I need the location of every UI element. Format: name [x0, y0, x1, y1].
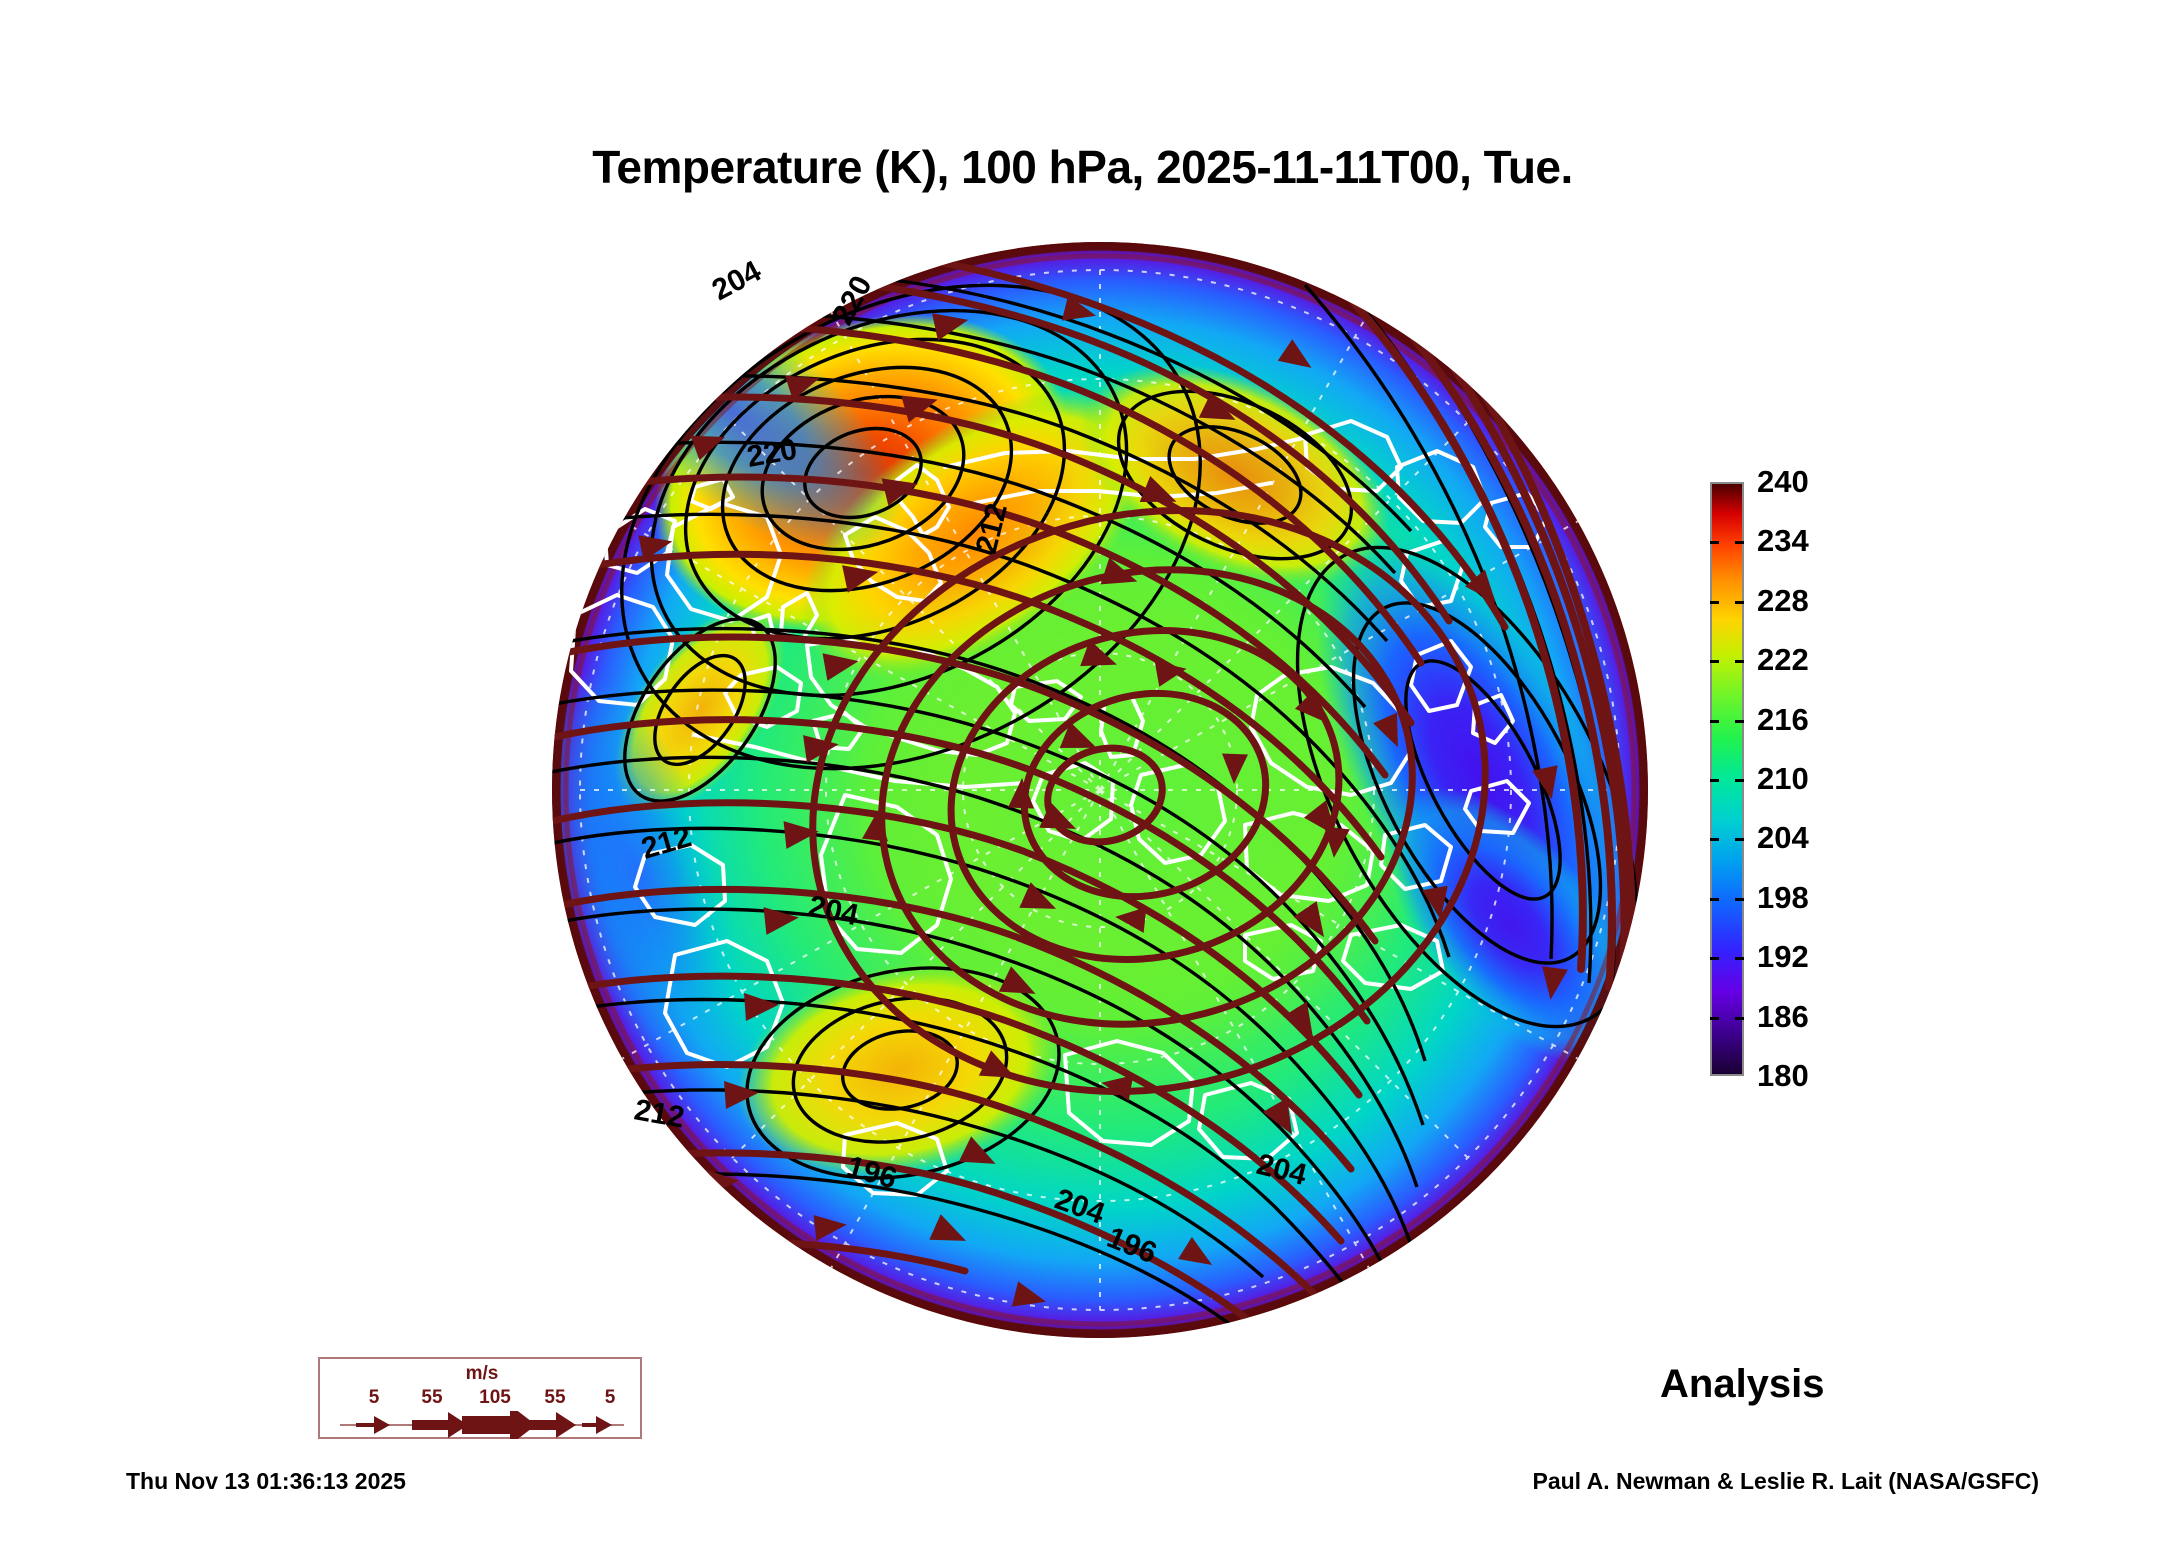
colorbar-tick	[1735, 898, 1744, 901]
wind-legend-tick-labels: 555105555	[320, 1387, 644, 1411]
colorbar-tick-label: 180	[1757, 1058, 1809, 1094]
colorbar-tick	[1735, 1017, 1744, 1020]
colorbar-tick-label: 228	[1757, 583, 1809, 619]
analysis-label: Analysis	[1660, 1362, 1990, 1407]
polar-map-panel[interactable]: 196 196 196 196 196 204 204 204 204 212 …	[545, 235, 1655, 1345]
wind-legend-tick-label: 55	[421, 1387, 442, 1409]
colorbar-tick	[1735, 779, 1744, 782]
wind-legend-units: m/s	[320, 1363, 644, 1385]
colorbar-tick-label: 192	[1757, 939, 1809, 975]
contour-label-204: 204	[707, 254, 767, 307]
colorbar-tick	[1735, 541, 1744, 544]
colorbar-tick-label: 210	[1757, 761, 1809, 797]
colorbar-tick-label: 198	[1757, 880, 1809, 916]
author-credit: Paul A. Newman & Leslie R. Lait (NASA/GS…	[1532, 1468, 2039, 1495]
colorbar-tick	[1710, 541, 1719, 544]
colorbar-tick-label: 240	[1757, 464, 1809, 500]
colorbar-tick	[1710, 720, 1719, 723]
colorbar-tick	[1710, 1017, 1719, 1020]
colorbar-tick	[1710, 898, 1719, 901]
polar-map[interactable]: 196 196 196 196 196 204 204 204 204 212 …	[545, 235, 1655, 1345]
colorbar-ticks	[1710, 482, 1744, 1076]
colorbar-tick	[1710, 779, 1719, 782]
colorbar-tick-label: 186	[1757, 999, 1809, 1035]
colorbar-tick	[1710, 601, 1719, 604]
colorbar-tick	[1710, 838, 1719, 841]
page-title: Temperature (K), 100 hPa, 2025-11-11T00,…	[0, 140, 2165, 194]
colorbar-tick-label: 216	[1757, 702, 1809, 738]
colorbar-tick-label: 204	[1757, 820, 1809, 856]
colorbar-tick-label: 234	[1757, 523, 1809, 559]
wind-legend-tick-label: 5	[605, 1387, 616, 1409]
wind-legend-tick-label: 55	[544, 1387, 565, 1409]
colorbar-tick	[1735, 720, 1744, 723]
wind-legend-arrows	[320, 1411, 644, 1439]
colorbar-tick-label: 222	[1757, 642, 1809, 678]
colorbar-tick	[1710, 660, 1719, 663]
colorbar-tick	[1735, 838, 1744, 841]
wind-legend-tick-label: 105	[479, 1387, 511, 1409]
colorbar-tick	[1735, 660, 1744, 663]
wind-speed-legend: m/s 555105555	[318, 1357, 642, 1439]
generation-timestamp: Thu Nov 13 01:36:13 2025	[126, 1468, 406, 1495]
colorbar-tick	[1735, 957, 1744, 960]
colorbar-tick	[1735, 601, 1744, 604]
colorbar-tick	[1710, 957, 1719, 960]
colorbar: 240234228222216210204198192186180	[1705, 470, 2035, 1090]
colorbar-tick-labels: 240234228222216210204198192186180	[1757, 470, 1907, 1088]
wind-legend-tick-label: 5	[369, 1387, 380, 1409]
